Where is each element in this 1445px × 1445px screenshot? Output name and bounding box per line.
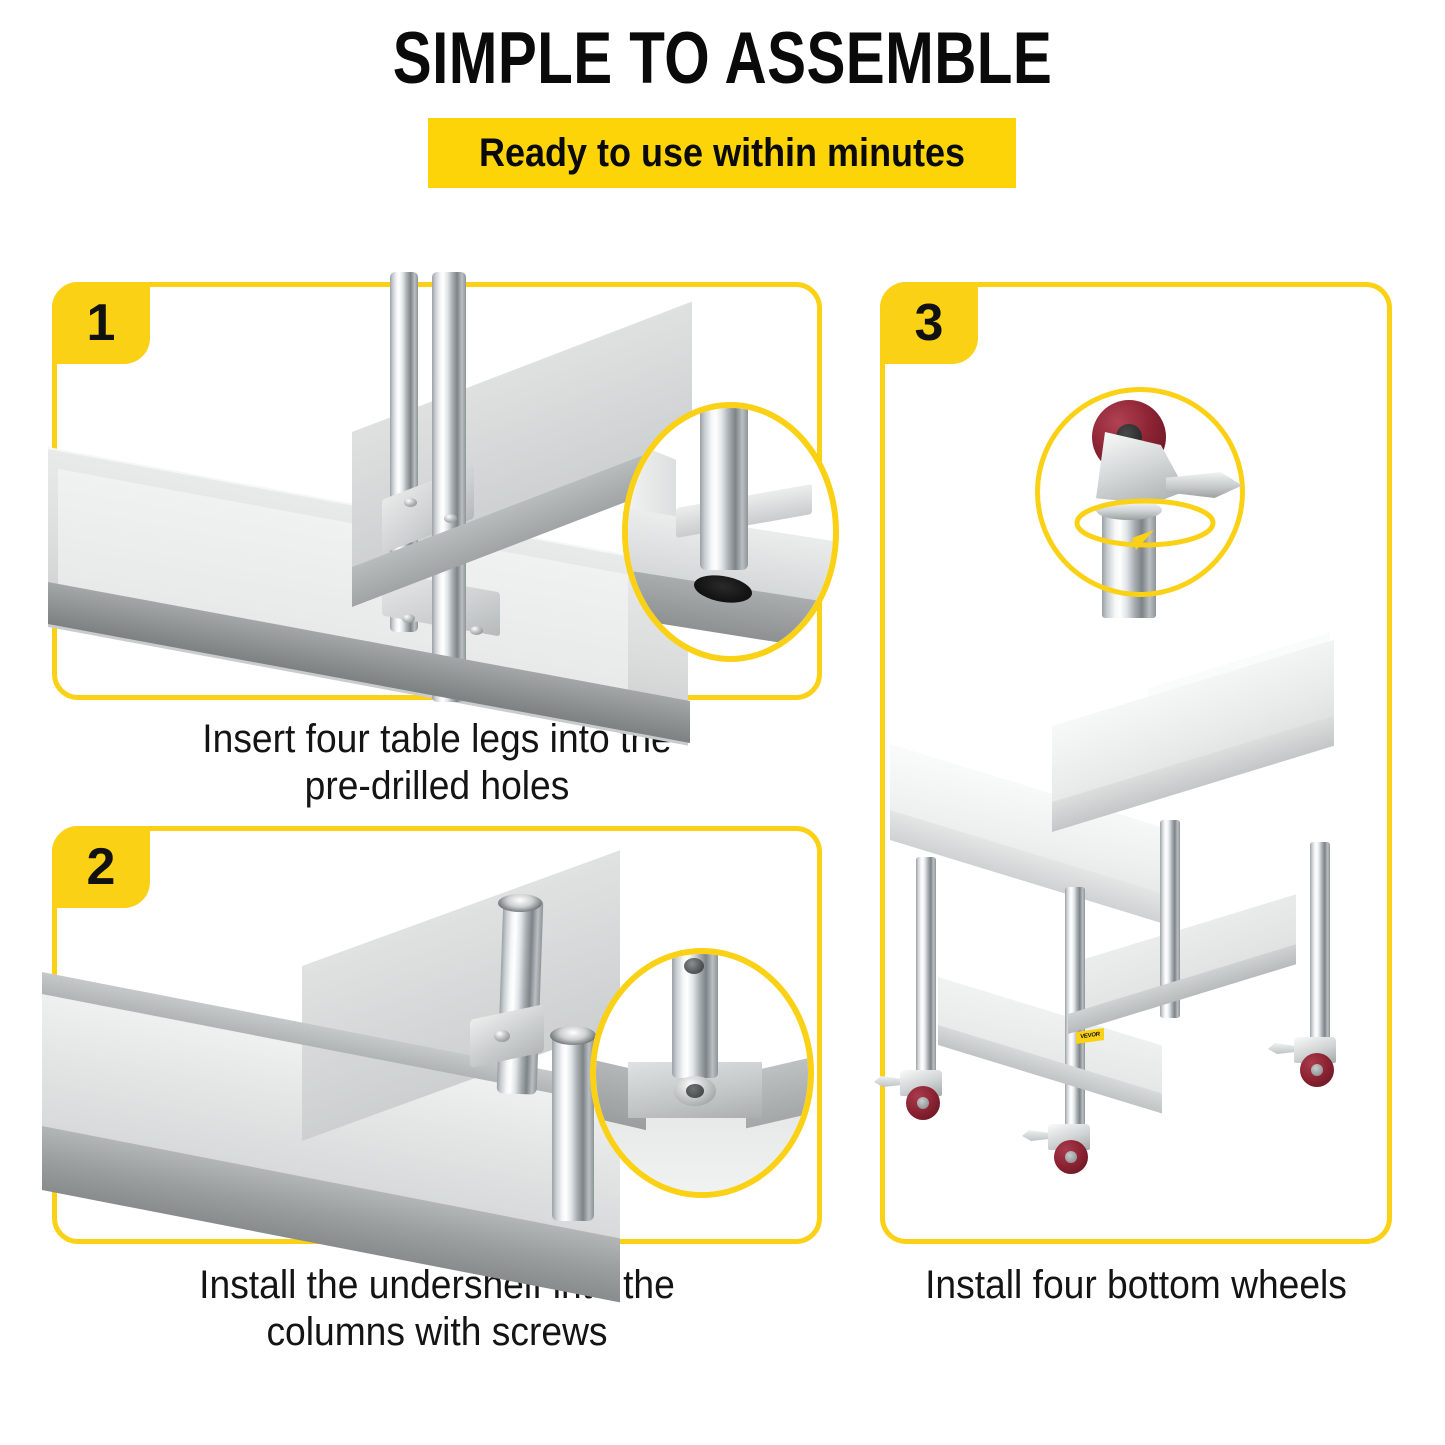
- step-1-detail-callout: [622, 402, 839, 662]
- bolt-icon: [402, 614, 415, 623]
- caster-hub: [917, 1097, 929, 1109]
- leg-column-rear-opening: [498, 894, 542, 912]
- subtitle-text: Ready to use within minutes: [479, 131, 965, 176]
- bolt-icon: [404, 498, 417, 507]
- header: SIMPLE TO ASSEMBLE Ready to use within m…: [0, 0, 1445, 250]
- bolt-icon: [470, 626, 483, 635]
- table-leg-front-left: [916, 857, 936, 1082]
- step-2-detail-callout: [590, 948, 814, 1198]
- step-2-caption: Install the undershelf into the columns …: [79, 1262, 795, 1356]
- callout-leg-tube: [700, 402, 748, 570]
- leg-column-rear: [497, 897, 544, 1094]
- rotation-arrow-icon: [1070, 488, 1220, 558]
- subtitle-highlight-bar: Ready to use within minutes: [428, 118, 1016, 188]
- step-1-badge: 1: [52, 282, 150, 364]
- callout-screw-socket: [686, 1084, 704, 1098]
- step-3-badge: 3: [880, 282, 978, 364]
- caster-hub: [1065, 1151, 1077, 1163]
- step-3-caption: Install four bottom wheels: [898, 1262, 1374, 1309]
- leg-column-front: [552, 1031, 594, 1221]
- step-2-badge: 2: [52, 826, 150, 908]
- callout-reflective-floor: [590, 1114, 814, 1198]
- screw-icon: [494, 1030, 510, 1042]
- caster-hub: [1311, 1064, 1323, 1076]
- table-leg-front: [432, 272, 466, 702]
- bolt-icon: [444, 514, 457, 523]
- callout-top-bolt: [684, 958, 704, 974]
- page-title: SIMPLE TO ASSEMBLE: [145, 22, 1301, 95]
- leg-column-front-opening: [550, 1026, 596, 1045]
- table-leg-back-right: [1310, 842, 1330, 1050]
